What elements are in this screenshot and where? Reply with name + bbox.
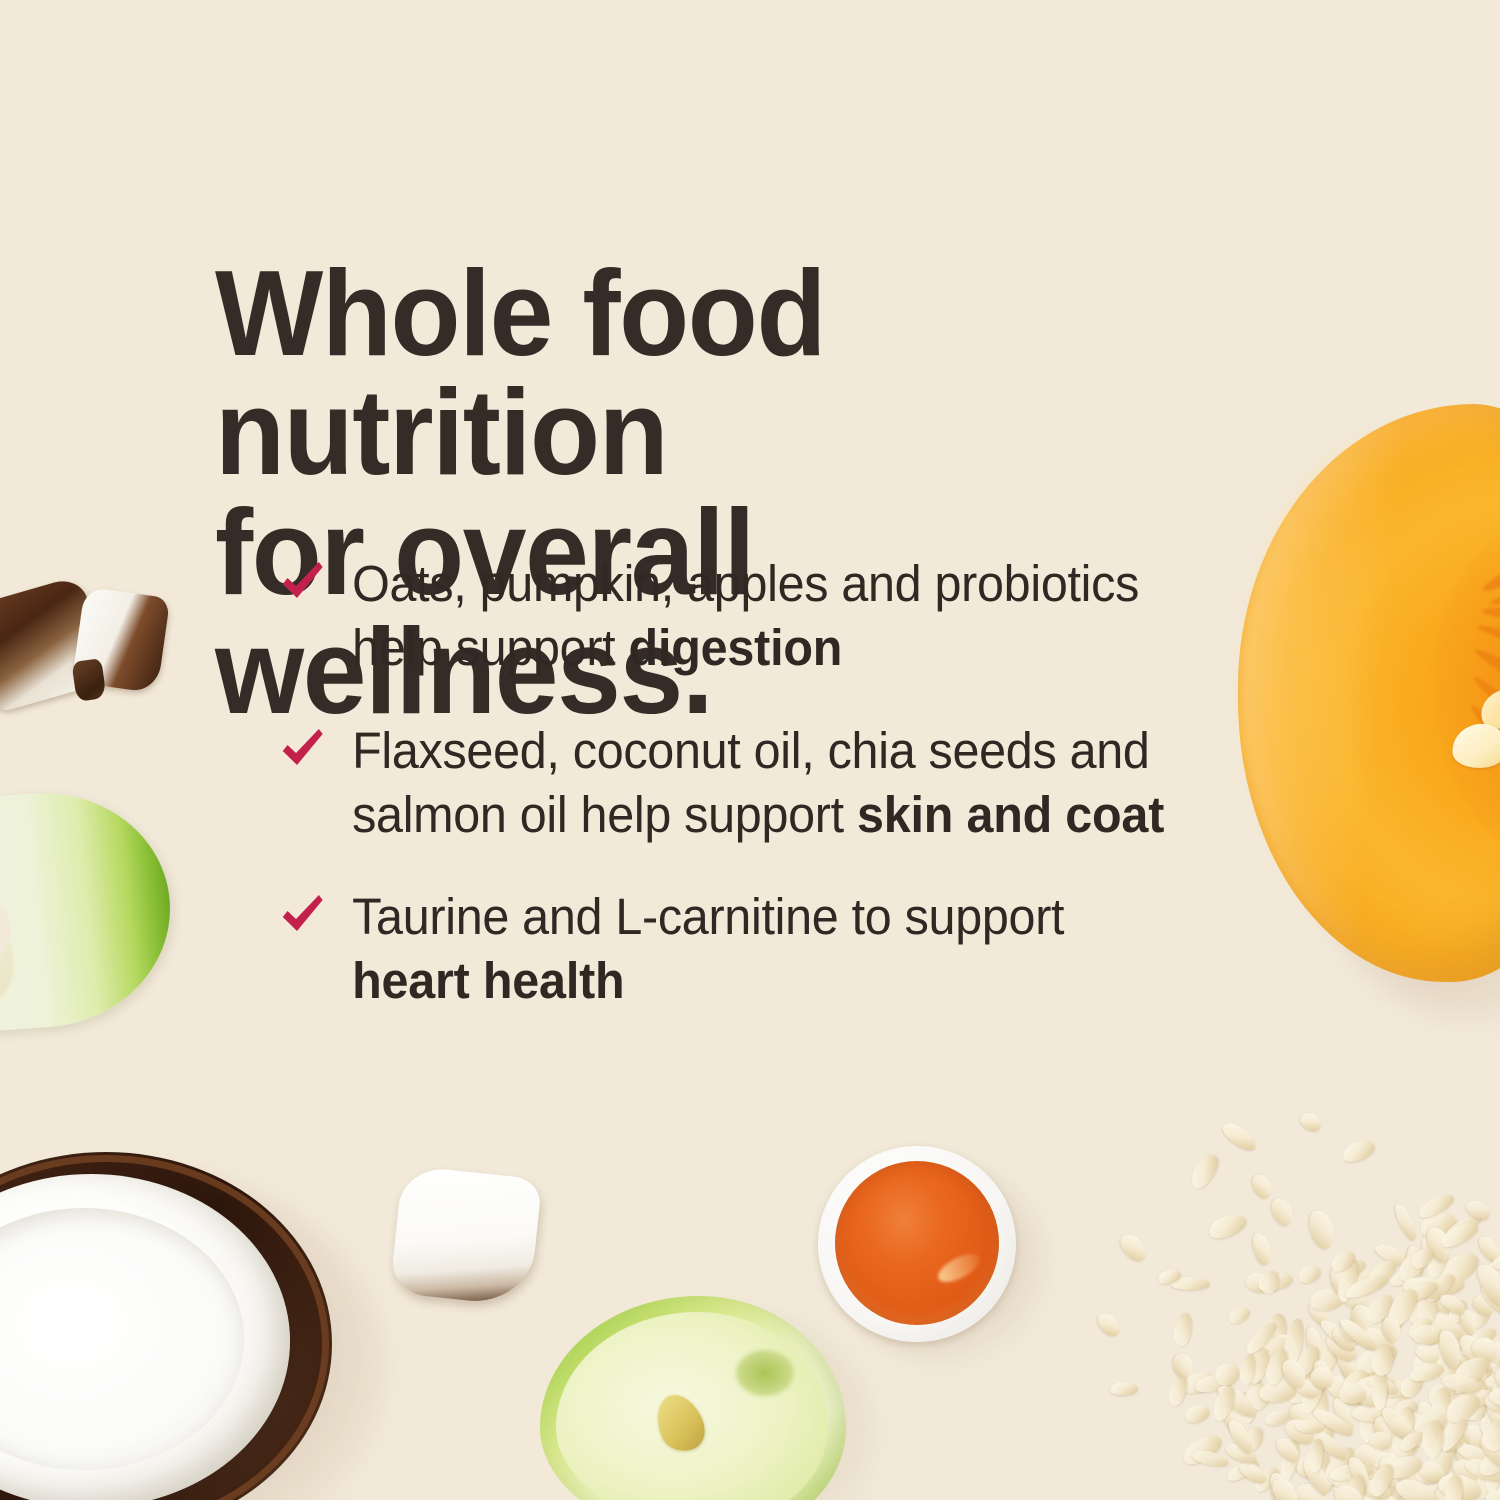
oat-flake <box>1094 1309 1124 1340</box>
oat-flake <box>1297 1109 1324 1134</box>
coconut-chunk-white-image <box>390 1165 543 1307</box>
oat-flake <box>1183 1401 1211 1424</box>
pumpkin-flesh <box>1238 404 1500 982</box>
pumpkin-rim-highlight <box>1240 414 1430 970</box>
rolled-oats-image <box>1100 1120 1500 1500</box>
oat-flake <box>1268 1195 1297 1229</box>
list-item: Oats, pumpkin, apples and probiotics hel… <box>278 552 1190 681</box>
promo-image: Whole food nutrition for overall wellnes… <box>0 0 1500 1500</box>
oat-flake <box>1187 1151 1222 1192</box>
oat-flake <box>1206 1209 1250 1243</box>
salmon-oil-bowl-image <box>818 1146 1048 1366</box>
oat-flake <box>1191 1448 1230 1469</box>
benefit-text-bold: skin and coat <box>857 786 1164 843</box>
oat-flake <box>1340 1136 1377 1165</box>
oat-flake <box>1172 1312 1194 1347</box>
oat-flake <box>1251 1231 1275 1267</box>
coconut-crumb-image <box>71 658 106 702</box>
oat-flake <box>1226 1304 1252 1327</box>
apple-slice-image <box>0 785 178 1034</box>
benefit-text-bold: heart health <box>352 952 624 1009</box>
oat-flake <box>1249 1171 1275 1201</box>
check-icon <box>278 891 326 941</box>
oat-flake <box>1116 1229 1151 1265</box>
list-item: Flaxseed, coconut oil, chia seeds and sa… <box>278 719 1190 848</box>
benefit-text-bold: digestion <box>629 619 843 676</box>
benefit-text-regular: Taurine and L-carnitine to support <box>352 888 1064 945</box>
check-icon <box>278 558 326 608</box>
oat-flake <box>1110 1381 1139 1396</box>
list-item: Taurine and L-carnitine to support heart… <box>278 885 1190 1014</box>
oat-flake <box>1412 1325 1442 1344</box>
benefits-list: Oats, pumpkin, apples and probiotics hel… <box>278 552 1238 1014</box>
oat-flake <box>1305 1207 1338 1252</box>
oat-flake <box>1391 1202 1420 1244</box>
check-icon <box>278 725 326 775</box>
coconut-half-image <box>0 1152 400 1500</box>
oat-flake <box>1296 1262 1323 1286</box>
oat-flake <box>1219 1118 1261 1155</box>
pumpkin-half-image <box>1238 404 1500 1004</box>
oat-flake <box>1339 1382 1366 1403</box>
